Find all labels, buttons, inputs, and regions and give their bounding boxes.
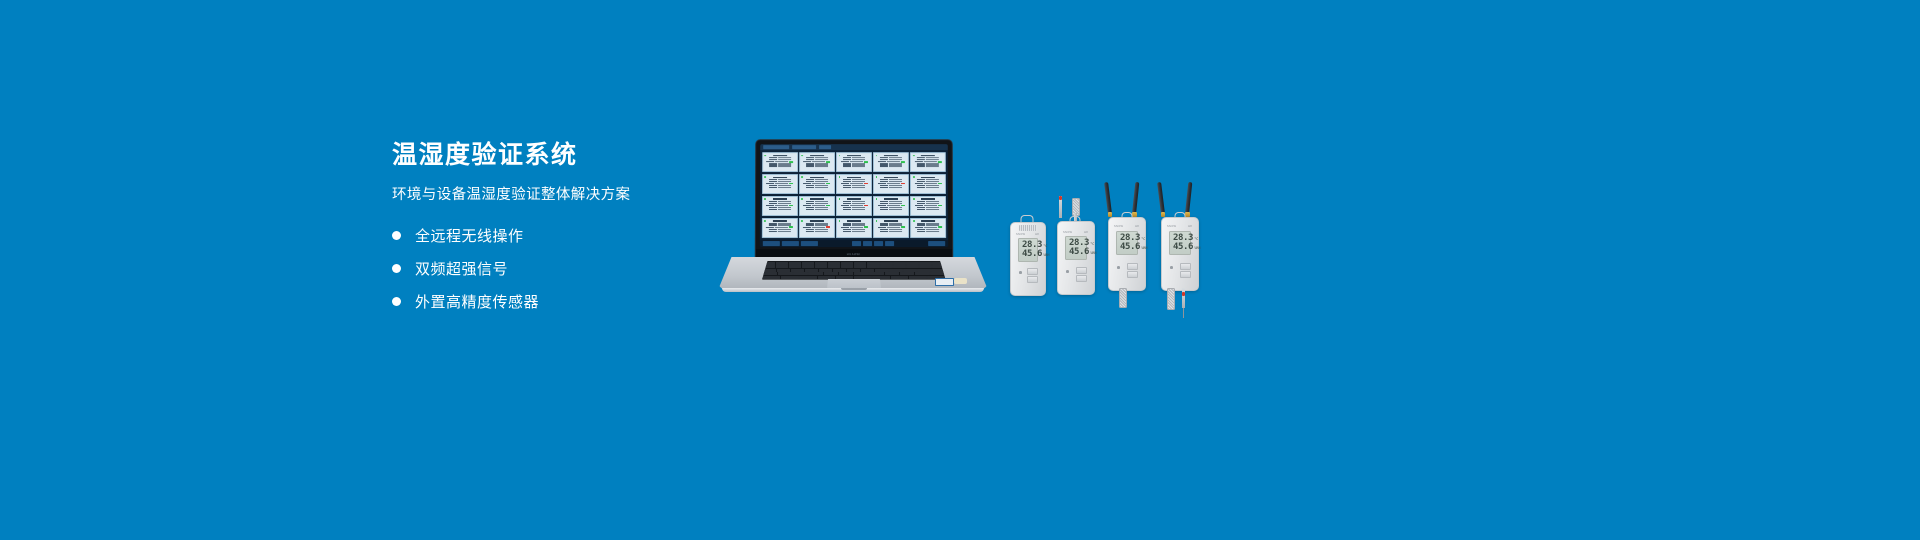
humidity-reading: 45.6 %RH (1022, 250, 1037, 259)
card-field-label (804, 161, 812, 162)
card-field-value (778, 187, 791, 188)
card-data-row (913, 209, 944, 210)
card-field-value (850, 161, 863, 162)
sensor-card[interactable] (762, 196, 798, 216)
card-data-row (802, 161, 832, 163)
card-field-label (917, 203, 925, 204)
card-field-value (924, 183, 937, 184)
card-data-row (839, 181, 869, 182)
card-field-label (769, 224, 777, 225)
card-field-label (917, 187, 925, 188)
card-status-chip (901, 161, 905, 163)
keyboard-key (889, 269, 902, 272)
laptop-lid: HUAWEI (756, 140, 953, 258)
card-field-value (775, 227, 788, 228)
card-field-value (887, 161, 900, 162)
card-data-row (913, 226, 944, 228)
card-field-label (843, 224, 851, 225)
keyboard-key (778, 272, 793, 275)
keyboard-key (763, 276, 781, 279)
keyboard-key (805, 269, 818, 272)
keyboard-key (815, 262, 827, 265)
card-field-value (852, 165, 865, 166)
sensor-card[interactable] (799, 218, 835, 239)
humidity-value: 45.6 (1120, 243, 1140, 252)
card-field-value (889, 159, 902, 160)
card-data-row (876, 183, 906, 185)
card-data-row (839, 226, 870, 228)
card-field-value (778, 209, 791, 210)
card-field-value (815, 203, 828, 204)
card-data-row (764, 231, 795, 232)
humidity-reading: 45.6 %RH (1173, 243, 1190, 252)
card-status-chip (864, 205, 868, 207)
card-data-row (876, 226, 907, 228)
card-field-label (806, 181, 814, 182)
sensor-card-grid (760, 150, 948, 240)
sensor-card[interactable] (762, 152, 798, 172)
card-data-row (802, 187, 832, 188)
card-field-value (852, 209, 865, 210)
keyboard-key (828, 262, 840, 265)
card-field-value (889, 231, 902, 232)
device-brand-label: SNOW (1063, 231, 1072, 234)
card-field-label (769, 187, 777, 188)
card-data-row (876, 209, 907, 210)
lcd-display: 28.3 °C 45.6 %RH (1169, 231, 1191, 255)
card-data-row (765, 183, 795, 185)
card-field-value (815, 187, 828, 188)
laptop-bezel (760, 144, 948, 247)
data-logger-4: SNOW H8 28.3 °C 45.6 %RH (1158, 182, 1202, 322)
temperature-unit: °C (1090, 242, 1094, 246)
card-status-chip (826, 183, 830, 185)
card-field-label (766, 205, 774, 206)
card-field-label (766, 161, 774, 162)
card-field-label (806, 231, 814, 232)
card-data-row (765, 165, 795, 166)
keyboard-key (880, 262, 892, 265)
keyboard-row (763, 276, 945, 279)
card-status-chip (826, 161, 830, 163)
card-data-row (839, 183, 869, 185)
card-data-row (839, 165, 869, 166)
card-field-label (917, 159, 925, 160)
topbar-item-history (792, 145, 816, 149)
laptop-sticker-blue (935, 278, 954, 286)
device-body: SNOW H8 28.3 °C 45.6 %RH (1161, 217, 1199, 291)
card-field-label (806, 203, 814, 204)
card-data-row (839, 209, 870, 210)
card-status-chip (938, 205, 942, 207)
pagination-page-1 (863, 241, 872, 246)
sensor-card[interactable] (799, 152, 835, 172)
bottom-button-delete (801, 241, 818, 246)
card-data-row (876, 203, 907, 204)
card-data-row (802, 183, 832, 185)
card-field-value (852, 187, 865, 188)
sensor-probe-mesh-icon (1119, 288, 1127, 308)
temperature-unit: °C (1043, 244, 1047, 248)
card-title-bar (810, 220, 823, 221)
card-field-label (769, 159, 777, 160)
laptop-sticker-gold (954, 278, 967, 284)
sensor-card[interactable] (762, 218, 798, 239)
status-led-icon (1117, 266, 1120, 269)
device-button-up[interactable] (1027, 268, 1038, 275)
pagination-first (852, 241, 861, 246)
device-model-label: H8 (1135, 225, 1139, 228)
card-field-label (806, 165, 814, 166)
status-led-icon (1019, 271, 1022, 274)
card-title-bar (884, 177, 897, 178)
keyboard-key (906, 265, 918, 268)
card-field-label (803, 227, 811, 228)
card-status-chip (863, 183, 867, 185)
card-status-chip (938, 183, 942, 185)
keyboard-key (839, 272, 854, 275)
card-field-value (852, 231, 865, 232)
card-field-label (843, 159, 851, 160)
card-data-row (913, 205, 944, 207)
card-title-bar (847, 198, 860, 199)
sensor-card[interactable] (873, 174, 909, 194)
card-field-value (812, 227, 825, 228)
keyboard-key (893, 262, 905, 265)
card-data-row (765, 181, 795, 182)
keyboard-key (909, 276, 927, 279)
card-title-bar (921, 155, 934, 156)
topbar-item-realtime (763, 145, 789, 149)
feature-label: 全远程无线操作 (415, 225, 524, 246)
sensor-card[interactable] (799, 196, 835, 216)
device-button-down[interactable] (1127, 271, 1138, 278)
data-logger-2: SNOW H8 28.3 °C 45.6 %RH (1055, 196, 1095, 296)
bottom-button-add (763, 241, 780, 246)
card-data-row (765, 159, 795, 160)
card-data-row (802, 205, 833, 207)
keyboard-key (789, 262, 801, 265)
card-field-value (778, 165, 791, 166)
keyboard-key (776, 265, 788, 268)
card-data-row (839, 159, 869, 160)
lcd-display: 28.3 °C 45.6 %RH (1018, 238, 1038, 262)
card-field-value (812, 183, 825, 184)
device-body: SNOW H8 28.3 °C 45.6 %RH (1057, 221, 1095, 295)
card-field-value (852, 181, 865, 182)
antenna-icon (1185, 182, 1192, 214)
card-status-chip (863, 161, 867, 163)
product-banner: 温湿度验证系统 环境与设备温湿度验证整体解决方案 全远程无线操作 双频超强信号 … (0, 0, 1920, 540)
probe-red-tip-icon (1059, 196, 1062, 200)
keyboard-key (917, 269, 930, 272)
keyboard-key (906, 262, 918, 265)
sensor-probe-mesh-icon (1167, 288, 1175, 310)
card-field-value (887, 183, 900, 184)
card-field-value (849, 227, 862, 228)
bullet-dot-icon (392, 264, 401, 273)
antenna-icon (1132, 182, 1139, 214)
keyboard-row (763, 272, 945, 275)
sensor-card[interactable] (910, 218, 946, 239)
card-field-value (926, 159, 939, 160)
card-field-label (915, 227, 923, 228)
keyboard-key (867, 262, 879, 265)
keyboard-key (900, 272, 915, 275)
device-button-up[interactable] (1180, 263, 1191, 270)
card-field-label (843, 165, 851, 166)
keyboard-key (854, 265, 866, 268)
humidity-reading: 45.6 %RH (1069, 248, 1086, 257)
card-field-label (843, 203, 851, 204)
sensor-card[interactable] (836, 152, 872, 172)
sensor-card[interactable] (910, 196, 946, 216)
card-data-row (913, 231, 944, 232)
sensor-card[interactable] (873, 218, 909, 239)
humidity-unit: %RH (1043, 253, 1049, 257)
sensor-card[interactable] (836, 174, 872, 194)
keyboard-key (777, 269, 790, 272)
keyboard-key (836, 276, 854, 279)
card-field-value (926, 231, 939, 232)
keyboard-key (875, 269, 888, 272)
keyboard-key (781, 276, 799, 279)
keyboard-key (861, 269, 874, 272)
card-data-row (913, 161, 943, 163)
keyboard-key (915, 272, 930, 275)
card-title-bar (773, 220, 786, 221)
card-field-value (889, 187, 902, 188)
keyboard-key (869, 272, 884, 275)
card-field-value (778, 203, 791, 204)
device-button-down[interactable] (1180, 271, 1191, 278)
humidity-value: 45.6 (1022, 250, 1042, 259)
card-data-row (876, 231, 907, 232)
keyboard-key (824, 272, 839, 275)
card-field-value (815, 159, 828, 160)
device-button-down[interactable] (1076, 275, 1087, 282)
card-title-bar (884, 155, 897, 156)
keyboard-key (763, 272, 778, 275)
device-body: SNOW H8 28.3 °C 45.6 %RH (1010, 222, 1046, 296)
card-data-row (802, 165, 832, 166)
card-status-chip (789, 226, 793, 228)
card-field-value (926, 203, 939, 204)
humidity-reading: 45.6 %RH (1120, 243, 1137, 252)
keyboard-key (854, 272, 869, 275)
card-field-label (806, 159, 814, 160)
keyboard-key (880, 265, 892, 268)
keyboard-key (919, 262, 931, 265)
antenna-icon (1157, 182, 1165, 214)
card-field-value (775, 205, 788, 206)
card-field-label (769, 203, 777, 204)
sensor-card[interactable] (799, 174, 835, 194)
card-status-chip (938, 226, 942, 228)
card-data-row (839, 187, 869, 188)
card-field-value (812, 161, 825, 162)
card-field-value (889, 203, 902, 204)
humidity-unit: %RH (1141, 246, 1147, 250)
card-data-row (876, 187, 906, 188)
keyboard-key (799, 276, 817, 279)
device-brand-label: SNOW (1016, 233, 1025, 236)
laptop-trackpad (827, 279, 881, 288)
card-title-bar (884, 198, 897, 199)
card-field-value (926, 181, 939, 182)
laptop-chin: HUAWEI (756, 249, 953, 258)
device-brand-label: SNOW (1167, 225, 1176, 228)
card-data-row (765, 161, 795, 163)
sensor-card[interactable] (762, 174, 798, 194)
keyboard-key (793, 272, 808, 275)
card-field-label (878, 227, 886, 228)
card-data-row (876, 205, 907, 207)
card-status-chip (901, 183, 905, 185)
sensor-card[interactable] (836, 218, 872, 239)
card-field-value (889, 165, 902, 166)
sensor-card[interactable] (873, 152, 909, 172)
device-model-label: H8 (1084, 231, 1088, 234)
laptop-keyboard (762, 261, 946, 280)
card-data-row (913, 181, 943, 182)
card-field-label (843, 209, 851, 210)
keyboard-key (791, 269, 804, 272)
card-status-dot-icon (913, 198, 915, 200)
card-data-row (876, 159, 906, 160)
card-title-bar (921, 177, 934, 178)
card-status-chip (826, 205, 830, 207)
card-field-value (815, 231, 828, 232)
keyboard-key (867, 265, 879, 268)
device-model-label: H8 (1188, 225, 1192, 228)
card-field-label (843, 231, 851, 232)
card-field-label (880, 159, 888, 160)
card-field-label (880, 224, 888, 225)
card-title-bar (773, 155, 786, 156)
humidity-value: 45.6 (1069, 248, 1089, 257)
card-field-value (887, 205, 900, 206)
humidity-unit: %RH (1090, 251, 1096, 255)
card-field-label (917, 224, 925, 225)
device-button-up[interactable] (1076, 267, 1087, 274)
dashboard-screen (760, 144, 948, 247)
card-field-value (850, 183, 863, 184)
feature-label: 外置高精度传感器 (415, 291, 539, 312)
card-field-label (880, 209, 888, 210)
probe-wire (1183, 308, 1184, 318)
card-data-row (876, 181, 906, 182)
keyboard-key (789, 265, 801, 268)
card-data-row (839, 231, 870, 232)
keyboard-key (930, 272, 945, 275)
card-field-value (815, 209, 828, 210)
card-data-row (802, 203, 833, 204)
pagination-page-2 (874, 241, 883, 246)
card-field-value (926, 209, 939, 210)
card-title-bar (922, 220, 935, 221)
card-data-row (802, 231, 833, 232)
card-data-row (764, 226, 795, 228)
keyboard-key (808, 272, 823, 275)
card-data-row (913, 165, 943, 166)
card-field-label (917, 181, 925, 182)
card-field-value (926, 165, 939, 166)
keyboard-key (872, 276, 890, 279)
temperature-unit: °C (1141, 237, 1145, 241)
keyboard-key (802, 265, 814, 268)
card-field-label (880, 187, 888, 188)
card-title-bar (847, 177, 860, 178)
keyboard-key (919, 265, 931, 268)
keyboard-key (815, 265, 827, 268)
card-field-label (915, 205, 923, 206)
card-field-value (852, 203, 865, 204)
card-title-bar (921, 198, 934, 199)
card-status-chip (938, 161, 942, 163)
card-field-label (806, 187, 814, 188)
card-status-chip (789, 205, 793, 207)
card-field-value (852, 159, 865, 160)
bottom-button-export (928, 241, 945, 246)
data-logger-3: SNOW H8 28.3 °C 45.6 %RH (1105, 182, 1149, 317)
card-data-row (802, 209, 833, 210)
status-led-icon (1066, 270, 1069, 273)
card-field-label (803, 205, 811, 206)
card-field-label (769, 231, 777, 232)
card-title-bar (847, 155, 860, 156)
sensor-card[interactable] (836, 196, 872, 216)
card-field-label (880, 203, 888, 204)
card-data-row (839, 205, 870, 207)
sensor-card[interactable] (910, 152, 946, 172)
card-title-bar (847, 220, 860, 221)
card-field-value (778, 159, 791, 160)
card-title-bar (810, 177, 823, 178)
card-field-label (841, 161, 849, 162)
temperature-unit: °C (1194, 237, 1198, 241)
card-field-label (878, 161, 886, 162)
sensor-card[interactable] (873, 196, 909, 216)
keyboard-key (891, 276, 909, 279)
card-data-row (802, 159, 832, 160)
card-status-chip (901, 226, 905, 228)
card-data-row (876, 165, 906, 166)
probe-connector-body (1182, 288, 1185, 308)
card-field-value (924, 227, 937, 228)
humidity-value: 45.6 (1173, 243, 1193, 252)
card-field-label (841, 183, 849, 184)
card-data-row (765, 203, 796, 204)
card-field-value (924, 161, 937, 162)
sensor-card[interactable] (910, 174, 946, 194)
bottom-button-edit (782, 241, 799, 246)
device-body: SNOW H8 28.3 °C 45.6 %RH (1108, 217, 1146, 291)
card-data-row (765, 187, 795, 188)
card-field-value (815, 181, 828, 182)
card-status-chip (901, 205, 905, 207)
card-field-label (880, 231, 888, 232)
card-field-label (878, 205, 886, 206)
humidity-unit: %RH (1194, 246, 1200, 250)
device-button-up[interactable] (1127, 263, 1138, 270)
device-button-down[interactable] (1027, 276, 1038, 283)
card-field-label (806, 224, 814, 225)
card-field-label (843, 181, 851, 182)
card-field-value (775, 183, 788, 184)
keyboard-key (885, 272, 900, 275)
pagination-last (885, 241, 894, 246)
